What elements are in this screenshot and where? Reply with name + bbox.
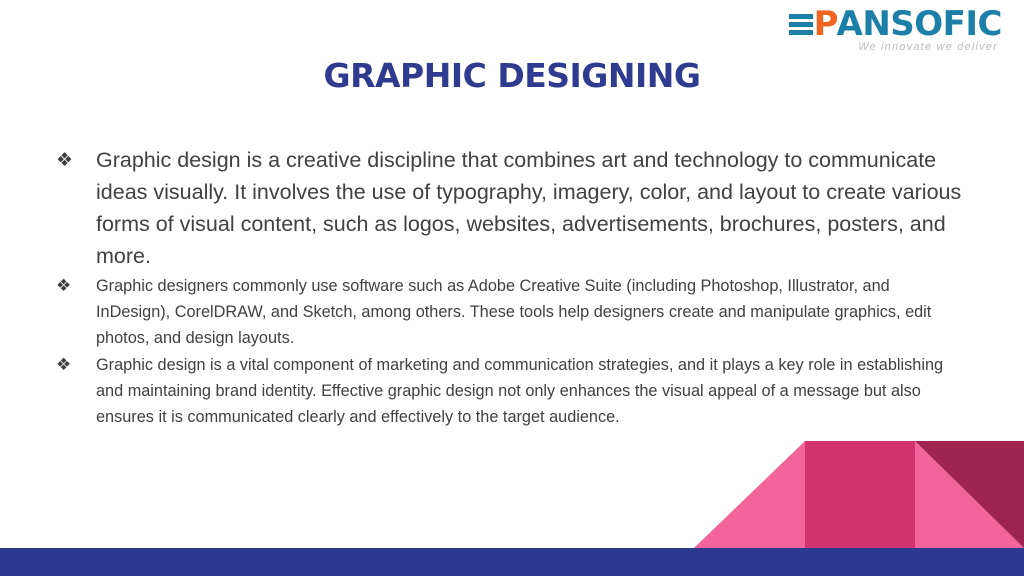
slide-canvas: P ANSOFIC We innovate we deliver GRAPHIC…	[0, 0, 1024, 576]
list-item: ❖ Graphic design is a vital component of…	[56, 352, 968, 430]
list-item: ❖ Graphic designers commonly use softwar…	[56, 273, 968, 351]
list-item: ❖ Graphic design is a creative disciplin…	[56, 144, 968, 272]
deco-dark-triangle	[915, 441, 1024, 548]
logo-letter-p: P	[814, 8, 838, 40]
bullet-text: Graphic designers commonly use software …	[96, 273, 968, 351]
logo-mark: P ANSOFIC	[802, 8, 1002, 40]
bullet-text: Graphic design is a vital component of m…	[96, 352, 968, 430]
diamond-bullet-icon: ❖	[56, 352, 96, 378]
pansofic-logo: P ANSOFIC We innovate we deliver	[802, 8, 1002, 60]
content-body: ❖ Graphic design is a creative disciplin…	[56, 144, 968, 430]
logo-wordmark: ANSOFIC	[837, 8, 1003, 40]
bullet-text: Graphic design is a creative discipline …	[96, 144, 968, 272]
diamond-bullet-icon: ❖	[56, 144, 96, 176]
deco-light-triangle-right	[915, 441, 1024, 548]
three-horizontal-bars-icon	[789, 13, 813, 35]
bottom-accent-bar	[0, 548, 1024, 576]
diamond-bullet-icon: ❖	[56, 273, 96, 299]
deco-light-triangle-left	[694, 441, 805, 548]
deco-pink-rectangle	[805, 441, 915, 548]
page-title: GRAPHIC DESIGNING	[0, 56, 1024, 95]
